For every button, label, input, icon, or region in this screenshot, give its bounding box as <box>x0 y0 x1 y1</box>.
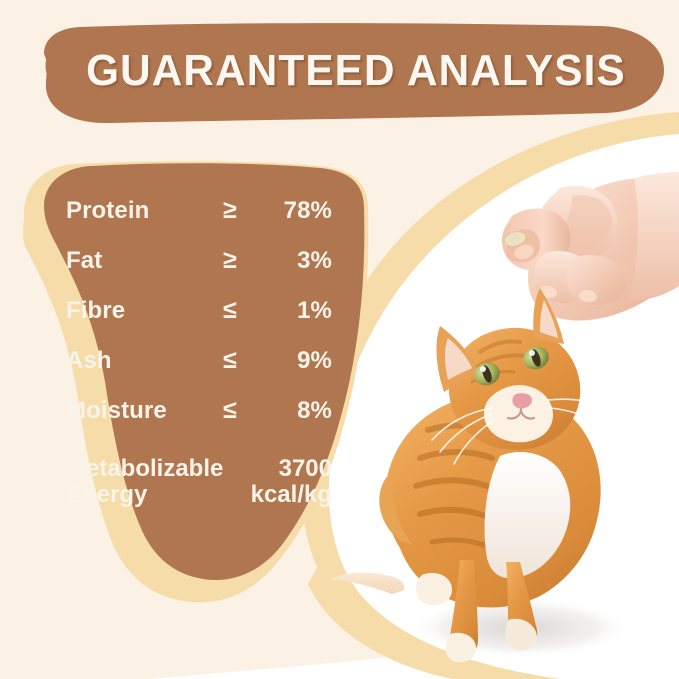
cat-eye-right-glint <box>529 350 535 356</box>
nutrient-value: 9% <box>252 347 332 375</box>
guaranteed-analysis-graphic: GUARANTEED ANALYSIS Protein ≥ 78% Fat ≥ … <box>0 0 679 679</box>
nutrient-value: 1% <box>252 297 332 325</box>
table-row-energy: Metabolizable Energy 3700 kcal/kg <box>66 456 332 507</box>
table-row: Fat ≥ 3% <box>66 246 332 296</box>
nutrient-label: Fat <box>66 247 208 275</box>
nutrient-value: 8% <box>252 397 332 425</box>
energy-value: 3700 kcal/kg <box>251 456 332 507</box>
nutrient-comparator: ≥ <box>208 196 252 225</box>
guaranteed-analysis-table: Protein ≥ 78% Fat ≥ 3% Fibre ≤ 1% Ash ≤ … <box>66 196 332 507</box>
nutrient-value: 3% <box>252 247 332 275</box>
nutrient-comparator: ≤ <box>208 296 252 325</box>
nutrient-comparator: ≤ <box>208 346 252 375</box>
nutrient-label: Ash <box>66 347 208 375</box>
nutrient-comparator: ≥ <box>208 246 252 275</box>
page-title: GUARANTEED ANALYSIS <box>78 40 635 102</box>
cat-eye-left-glint <box>480 366 486 372</box>
table-row: Protein ≥ 78% <box>66 196 332 246</box>
table-row: Fibre ≤ 1% <box>66 296 332 346</box>
table-row: Ash ≤ 9% <box>66 346 332 396</box>
table-row: Moisture ≤ 8% <box>66 396 332 446</box>
nutrient-value: 78% <box>252 197 332 225</box>
energy-label: Metabolizable Energy <box>66 456 223 507</box>
nutrient-comparator: ≤ <box>208 396 252 425</box>
nutrient-label: Fibre <box>66 297 208 325</box>
nutrient-label: Protein <box>66 197 208 225</box>
nutrient-label: Moisture <box>66 397 208 425</box>
